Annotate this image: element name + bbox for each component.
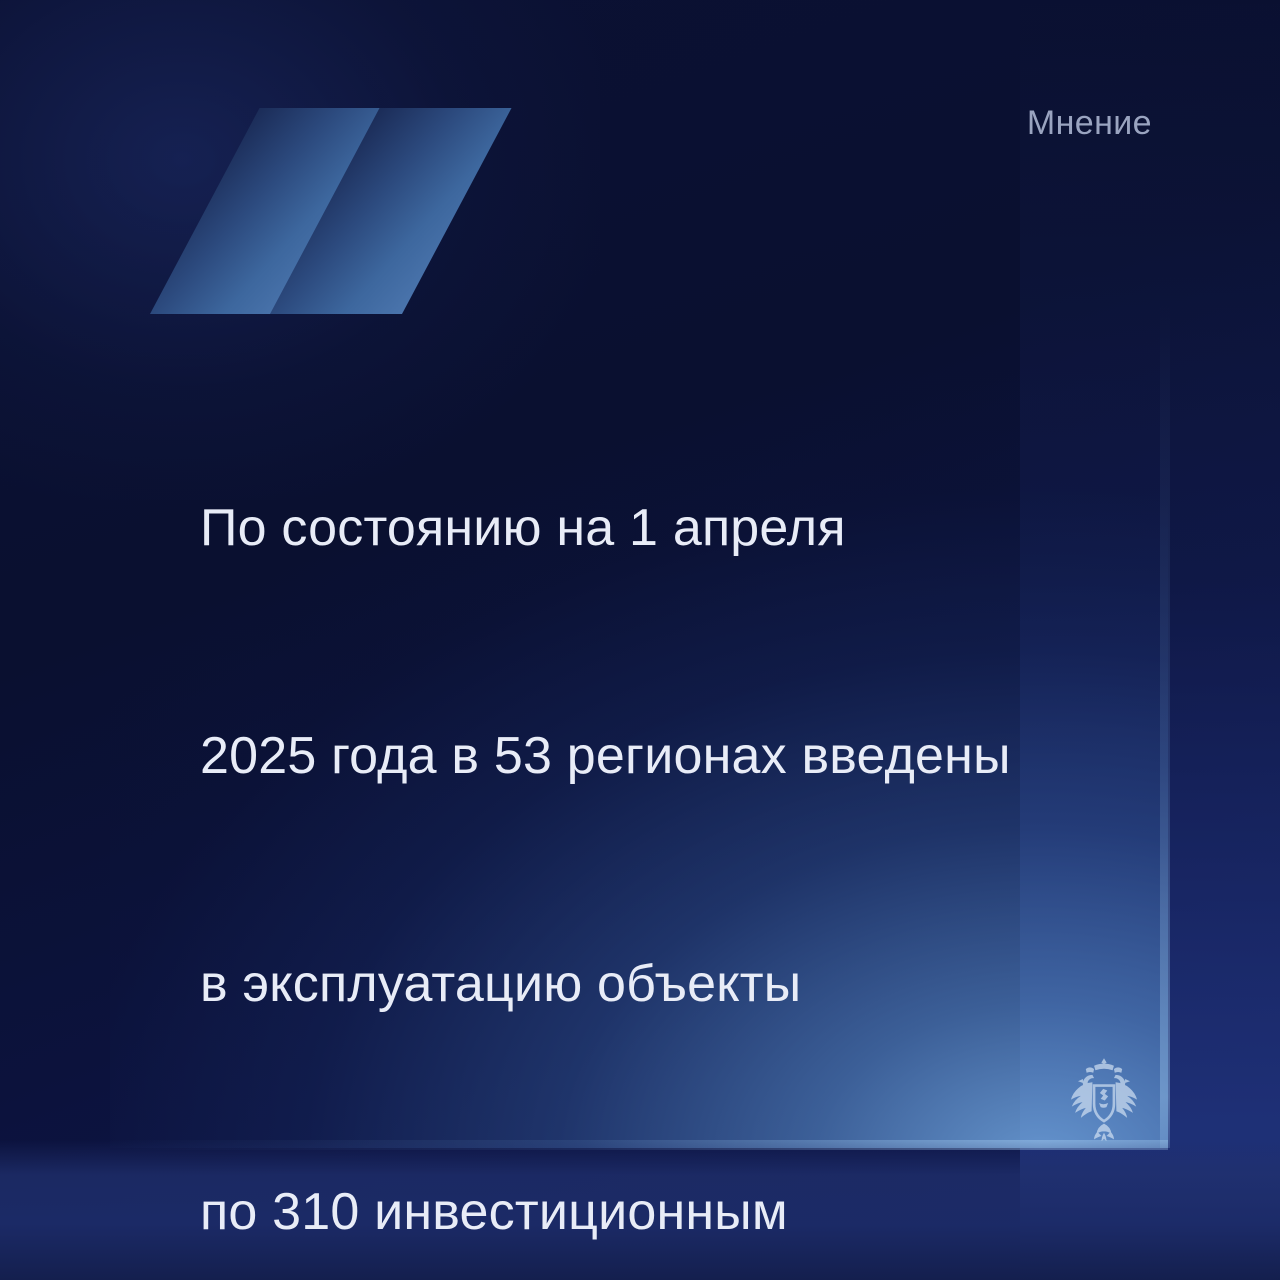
quote-line: по 310 инвестиционным — [200, 1174, 1130, 1250]
quote-line: 2025 года в 53 регионах введены — [200, 718, 1130, 794]
quote-body: По состоянию на 1 апреля 2025 года в 53 … — [200, 338, 1130, 1280]
section-label: Мнение — [1027, 104, 1152, 143]
quote-card: Мнение По состоянию на 1 апреля 2025 год… — [0, 0, 1280, 1280]
quote-mark-icon — [112, 108, 372, 314]
quote-line: в эксплуатацию объекты — [200, 946, 1130, 1022]
quote-line: По состоянию на 1 апреля — [200, 490, 1130, 566]
lit-panel-right-edge — [1160, 300, 1170, 1148]
double-headed-eagle-emblem — [1062, 1055, 1146, 1141]
